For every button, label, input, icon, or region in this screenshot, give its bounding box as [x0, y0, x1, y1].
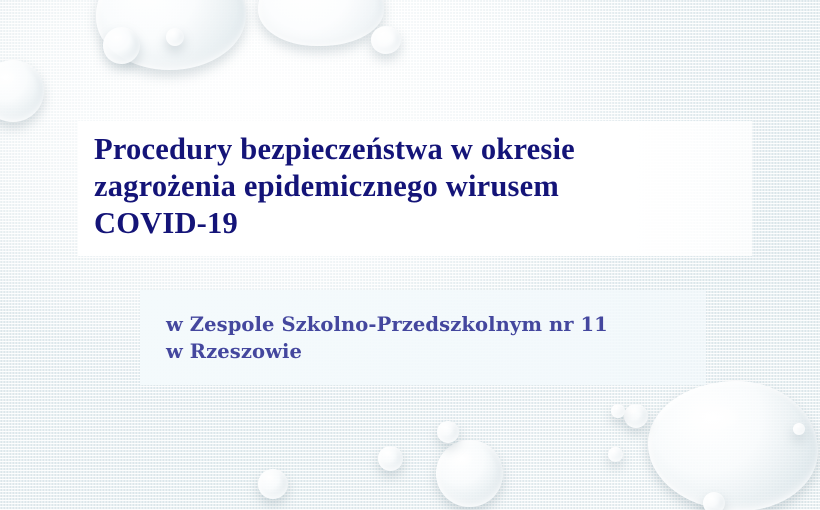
- water-droplet-icon: [648, 381, 818, 510]
- water-droplet-icon: [793, 423, 805, 435]
- title-text-box: Procedury bezpieczeństwa w okresie zagro…: [78, 121, 752, 256]
- water-droplet-icon: [611, 404, 625, 418]
- water-droplet-icon: [437, 421, 459, 443]
- subtitle-text-box: w Zespole Szkolno-Przedszkolnym nr 11 w …: [140, 290, 706, 385]
- water-droplet-icon: [258, 469, 288, 499]
- water-droplet-icon: [608, 447, 623, 462]
- water-droplet-icon: [624, 404, 648, 428]
- water-droplet-icon: [103, 27, 140, 64]
- presentation-slide: Procedury bezpieczeństwa w okresie zagro…: [0, 0, 820, 510]
- water-droplet-icon: [378, 446, 403, 471]
- water-droplet-icon: [371, 26, 401, 54]
- page-title: Procedury bezpieczeństwa w okresie zagro…: [94, 131, 694, 242]
- water-droplet-icon: [436, 440, 503, 507]
- water-droplet-icon: [703, 492, 725, 510]
- page-subtitle: w Zespole Szkolno-Przedszkolnym nr 11 w …: [166, 311, 686, 365]
- water-droplet-icon: [166, 28, 184, 46]
